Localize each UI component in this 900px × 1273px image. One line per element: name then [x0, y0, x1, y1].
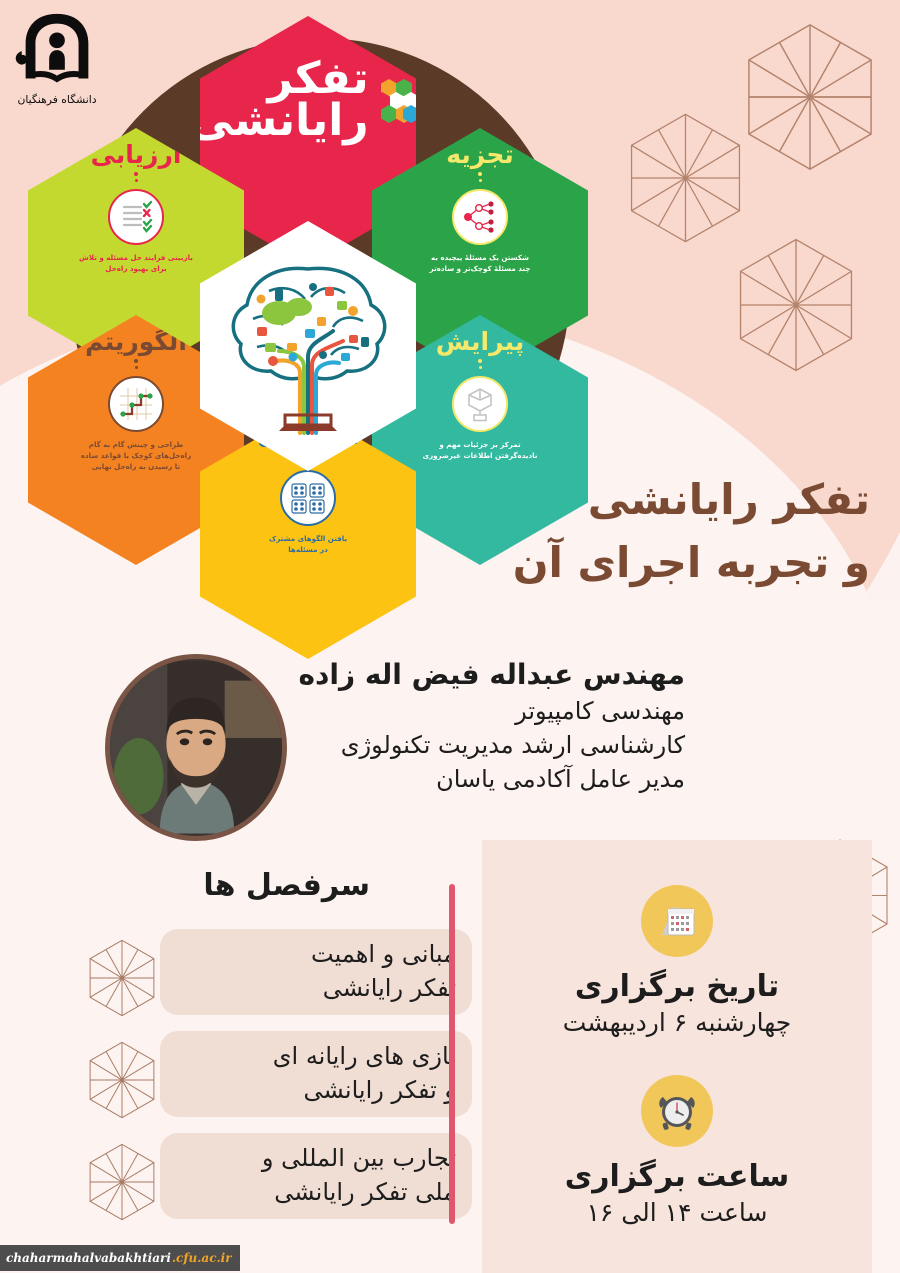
syllabus-item-2-line1: بازی های رایانه ای: [176, 1039, 456, 1073]
pattern-dots-icon: [280, 470, 336, 526]
syllabus-item-1-line2: تفکر رایانشی: [176, 971, 456, 1005]
syllabus-item-text: بازی های رایانه ای و تفکر رایانشی: [160, 1031, 472, 1117]
hex-algorithm-desc-2: راه‌حل‌های کوچک با قواعد ساده: [61, 451, 211, 462]
syllabus-item-3-line1: تجارب بین المللی و: [176, 1141, 456, 1175]
syllabus-item-3-line2: ملی تفکر رایانشی: [176, 1175, 456, 1209]
syllabus-item-1-line1: مبانی و اهمیت: [176, 937, 456, 971]
hex-abstraction-desc-2: نادیده‌گرفتن اطلاعات غیرضروری: [405, 451, 555, 462]
checklist-icon: [108, 189, 164, 245]
syllabus-item[interactable]: تجارب بین المللی و ملی تفکر رایانشی: [70, 1129, 470, 1231]
steps-grid-icon: [108, 376, 164, 432]
hex-abstraction-desc-1: تمرکز بر جزئیات مهم و: [405, 440, 555, 451]
syllabus-heading: سرفصل ها: [203, 868, 370, 903]
syllabus-list: مبانی و اهمیت تفکر رایانشی: [70, 925, 470, 1231]
hex-evaluation-desc-2: برای بهبود راه‌حل: [61, 264, 211, 275]
event-date-value: چهارشنبه ۶ اردیبهشت: [482, 1008, 872, 1037]
hex-star-decoration-icon: [745, 22, 875, 172]
brain-tree-icon: [213, 247, 403, 437]
university-logo: دانشگاه فرهنگیان: [8, 8, 106, 116]
hex-star-decoration-icon: [628, 112, 743, 244]
hex-star-icon: [88, 939, 156, 1021]
vertical-divider: [449, 884, 455, 1224]
url-prefix: chaharmahalvabakhtiari: [6, 1251, 171, 1265]
hex-star-decoration-icon: [737, 237, 855, 373]
wheel-title-line2: رایانشی: [189, 100, 368, 142]
speaker-section: مهندس عبداله فیض اله زاده مهندسی کامپیوت…: [0, 652, 900, 842]
syllabus-item-2-line2: و تفکر رایانشی: [176, 1073, 456, 1107]
logo-caption: دانشگاه فرهنگیان: [17, 93, 96, 106]
event-date-block: تاریخ برگزاری چهارشنبه ۶ اردیبهشت: [482, 840, 872, 1037]
hex-pattern-desc-1: یافتن الگوهای مشترک: [233, 534, 383, 545]
url-domain: .cfu.ac.ir: [172, 1251, 232, 1265]
syllabus-item[interactable]: مبانی و اهمیت تفکر رایانشی: [70, 925, 470, 1027]
hex-pattern-desc-2: در مسئله‌ها: [233, 545, 383, 556]
hex-evaluation-desc-1: بازبینی فرایند حل مسئله و تلاش: [61, 253, 211, 264]
speaker-name: مهندس عبداله فیض اله زاده: [298, 656, 685, 694]
site-url-watermark: chaharmahalvabakhtiari.cfu.ac.ir: [0, 1245, 240, 1271]
event-info-panel: تاریخ برگزاری چهارشنبه ۶ اردیبهشت: [482, 840, 872, 1273]
hex-star-icon: [88, 1041, 156, 1123]
poster-root: دانشگاه فرهنگیان: [0, 0, 900, 1273]
alarm-clock-icon: [641, 1075, 713, 1147]
syllabus-item-text: مبانی و اهمیت تفکر رایانشی: [160, 929, 472, 1015]
speaker-credential-2: کارشناسی ارشد مدیریت تکنولوژی: [298, 728, 685, 762]
hex-decomposition-desc-1: شکستن یک مسئلۀ پیچیده به: [405, 253, 555, 264]
syllabus-item[interactable]: بازی های رایانه ای و تفکر رایانشی: [70, 1027, 470, 1129]
hex-algorithm-desc-3: تا رسیدن به راه‌حل نهایی: [61, 462, 211, 473]
speaker-credential-3: مدیر عامل آکادمی یاسان: [298, 762, 685, 796]
event-time-heading: ساعت برگزاری: [482, 1159, 872, 1194]
main-title-line2: و تجربه اجرای آن: [513, 531, 870, 594]
hex-star-icon: [88, 1143, 156, 1225]
calendar-icon: [641, 885, 713, 957]
poster-main-title: تفکر رایانشی و تجربه اجرای آن: [513, 468, 870, 594]
event-time-block: ساعت برگزاری ساعت ۱۴ الی ۱۶: [482, 1037, 872, 1227]
speaker-details: مهندس عبداله فیض اله زاده مهندسی کامپیوت…: [298, 656, 685, 796]
event-date-heading: تاریخ برگزاری: [482, 969, 872, 1004]
cube-abstraction-icon: [452, 376, 508, 432]
speaker-avatar: [105, 654, 287, 841]
hex-decomposition-title: تجزیه: [446, 142, 514, 167]
speaker-credential-1: مهندسی کامپیوتر: [298, 694, 685, 728]
hex-algorithm-desc-1: طراحی و چینش گام به گام: [61, 440, 211, 451]
hex-decomposition-desc-2: چند مسئلۀ کوچک‌تر و ساده‌تر: [405, 264, 555, 275]
main-title-line1: تفکر رایانشی: [513, 468, 870, 531]
syllabus-item-text: تجارب بین المللی و ملی تفکر رایانشی: [160, 1133, 472, 1219]
tree-nodes-icon: [452, 189, 508, 245]
event-time-value: ساعت ۱۴ الی ۱۶: [482, 1198, 872, 1227]
